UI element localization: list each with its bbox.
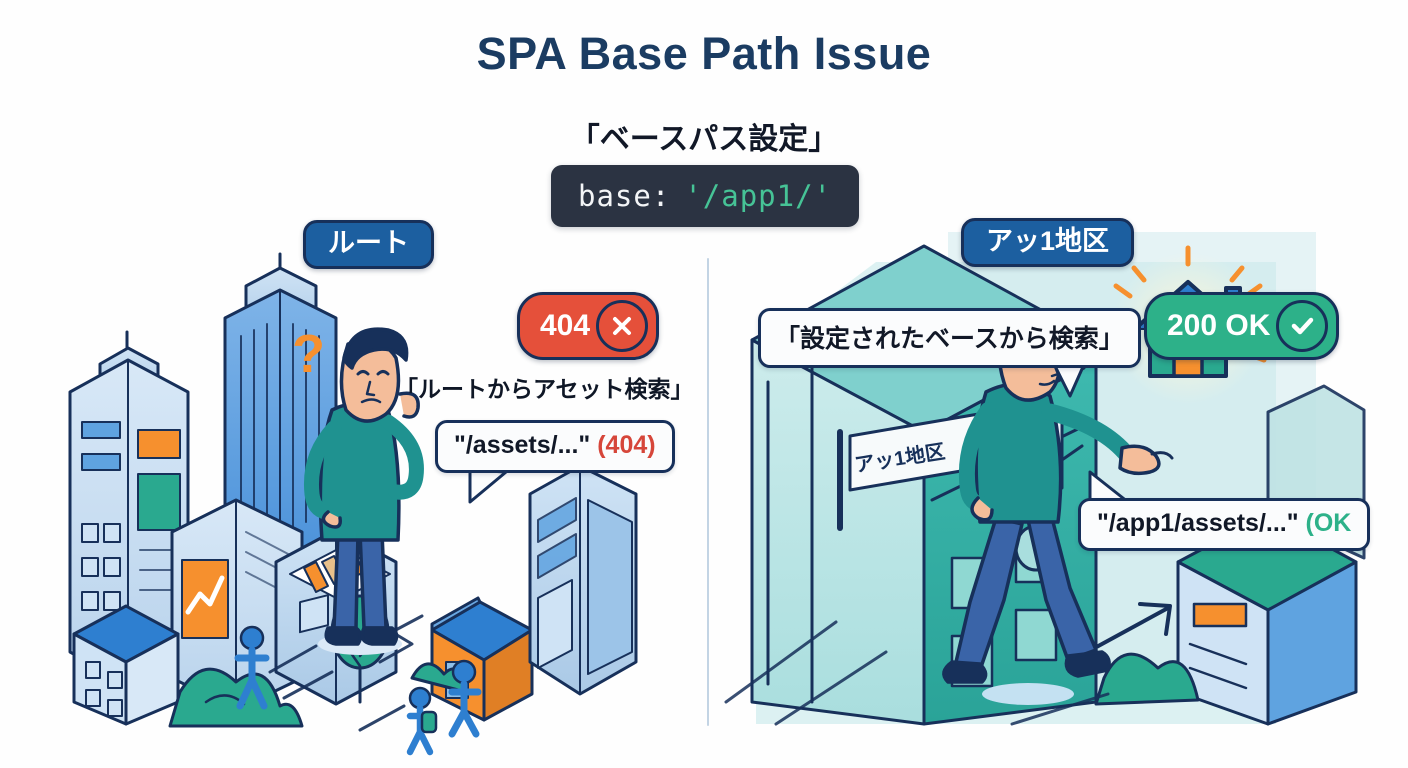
left-status-text: 404 [540, 311, 590, 341]
left-path-text: "/assets/..." [454, 431, 590, 459]
panel-divider [707, 258, 709, 726]
svg-text:?: ? [292, 324, 325, 384]
right-quote-text: 「設定されたベースから検索」 [775, 325, 1124, 353]
right-path-bubble: "/app1/assets/..." (OK [1078, 498, 1370, 551]
right-status-text: 200 OK [1167, 311, 1270, 341]
check-icon [1276, 300, 1328, 352]
right-path-text: "/app1/assets/..." [1097, 509, 1299, 537]
code-key: base: [578, 179, 670, 213]
pedestrian-3-with-backpack [410, 688, 436, 752]
right-path-status: (OK [1306, 509, 1352, 537]
left-path-bubble: "/assets/..." (404) [435, 420, 675, 473]
code-block: base: '/app1/' [551, 165, 859, 227]
illustration-canvas: SPA Base Path Issue 「ベースパス設定」 base: '/ap… [0, 0, 1408, 768]
code-value: '/app1/' [684, 179, 832, 213]
house-orange [432, 598, 532, 720]
building-right-glass [530, 466, 636, 694]
right-panel-label: アッ1地区 [961, 218, 1134, 267]
left-panel-label: ルート [303, 220, 434, 269]
right-quote-bubble: 「設定されたベースから検索」 [758, 308, 1141, 368]
page-subtitle: 「ベースパス設定」 [0, 114, 1408, 158]
question-mark-icon: ? [292, 324, 325, 384]
right-status-badge: 200 OK [1144, 292, 1339, 360]
left-bubble-tail [460, 468, 520, 508]
cross-icon [596, 300, 648, 352]
left-scene-panel: ? ルート 404 「ルートからアセット検索」 "/assets/..." (4… [60, 232, 700, 724]
page-title: SPA Base Path Issue [0, 28, 1408, 80]
left-status-badge: 404 [517, 292, 659, 360]
right-scene-panel: アッ1地区 アッ1地区 200 OK 「設定されたベースから検索」 "/app1… [716, 232, 1364, 724]
left-path-status: (404) [597, 431, 655, 459]
left-quote-text: 「ルートからアセット検索」 [395, 370, 694, 404]
